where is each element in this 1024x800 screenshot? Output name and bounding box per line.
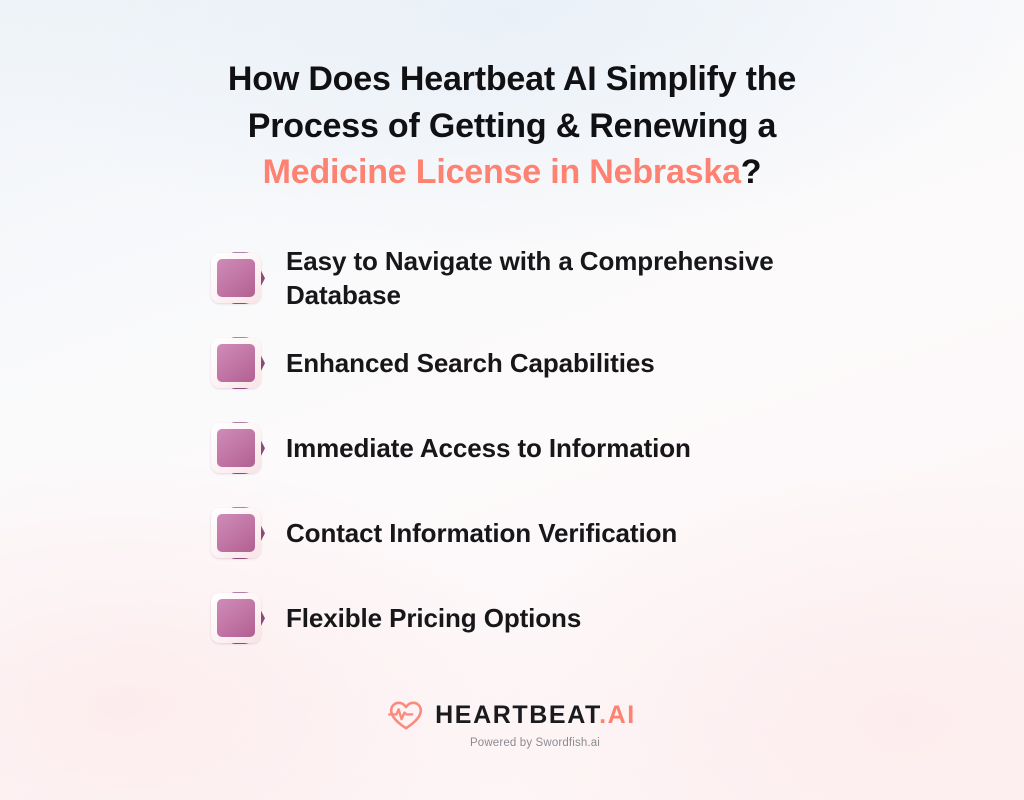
page-title-line-2: Process of Getting & Renewing a [248, 107, 776, 145]
page-title-line-1: How Does Heartbeat AI Simplify the [228, 60, 796, 98]
footer-branding: HEARTBEAT.AI Powered by Swordfish.ai [0, 700, 1024, 749]
logo: HEARTBEAT.AI [388, 700, 636, 731]
page-title: How Does Heartbeat AI Simplify the Proce… [142, 56, 882, 196]
bullet-square-icon [211, 589, 269, 647]
heart-pulse-icon [388, 700, 424, 731]
page-title-accent: Medicine License in Nebraska [263, 153, 741, 191]
list-item: Easy to Navigate with a Comprehensive Da… [211, 236, 831, 321]
logo-tagline: Powered by Swordfish.ai [470, 737, 600, 749]
logo-brand-suffix: .AI [599, 701, 636, 729]
bullet-square-icon [211, 249, 269, 307]
bullet-fill-shape [217, 344, 255, 382]
infographic-page: How Does Heartbeat AI Simplify the Proce… [0, 0, 1024, 800]
logo-wordmark: HEARTBEAT.AI [435, 703, 636, 728]
list-item: Flexible Pricing Options [211, 576, 831, 661]
bullet-fill-shape [217, 429, 255, 467]
bullet-fill-shape [217, 259, 255, 297]
bullet-fill-shape [217, 599, 255, 637]
bullet-square-icon [211, 504, 269, 562]
page-title-question-mark: ? [741, 153, 762, 191]
bullet-fill-shape [217, 514, 255, 552]
list-item: Enhanced Search Capabilities [211, 321, 831, 406]
feature-label: Flexible Pricing Options [286, 601, 581, 635]
feature-label: Immediate Access to Information [286, 431, 691, 465]
list-item: Contact Information Verification [211, 491, 831, 576]
feature-label: Contact Information Verification [286, 516, 677, 550]
feature-list: Easy to Navigate with a Comprehensive Da… [211, 236, 831, 661]
feature-label: Enhanced Search Capabilities [286, 346, 655, 380]
bullet-square-icon [211, 419, 269, 477]
logo-brand-text: HEARTBEAT [435, 701, 599, 729]
bullet-square-icon [211, 334, 269, 392]
list-item: Immediate Access to Information [211, 406, 831, 491]
feature-label: Easy to Navigate with a Comprehensive Da… [286, 244, 831, 313]
